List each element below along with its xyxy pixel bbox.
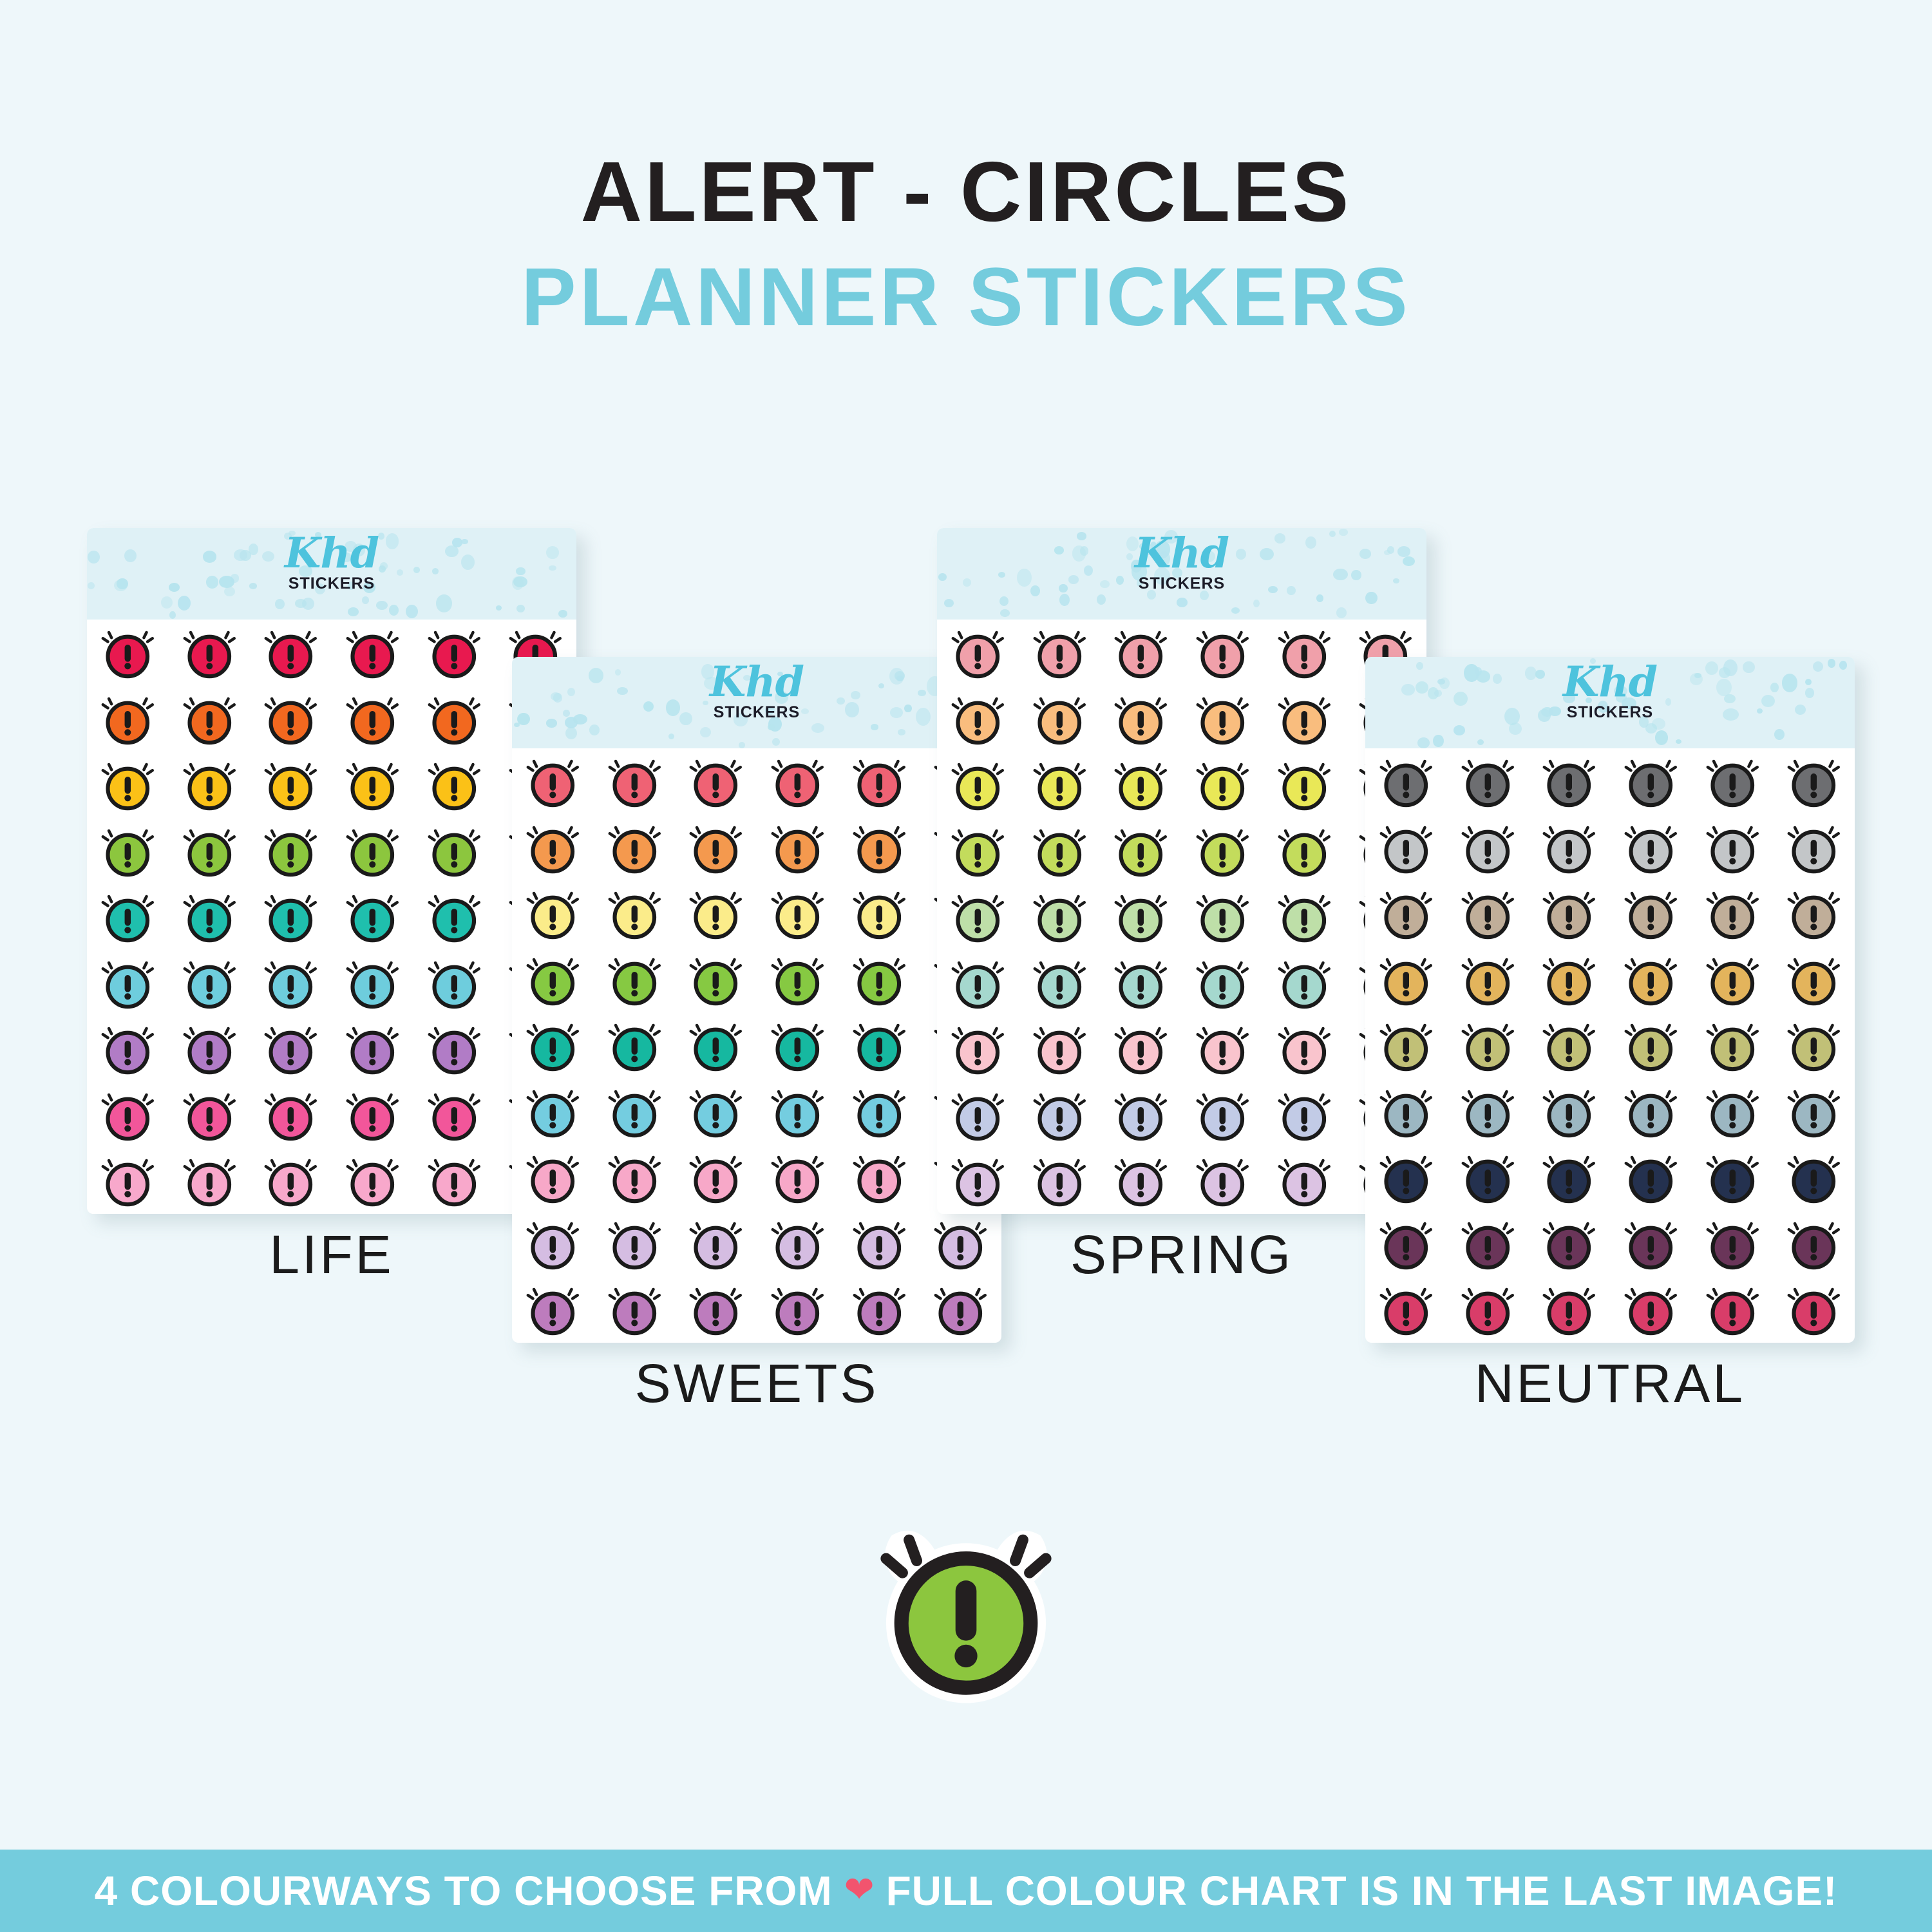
alert-circle-icon: [1108, 1016, 1174, 1082]
sticker-cell[interactable]: [764, 1079, 831, 1145]
alert-circle-icon: [1618, 1079, 1684, 1145]
sticker-cell[interactable]: [176, 620, 243, 686]
page-title: ALERT - CIRCLES: [0, 149, 1932, 234]
alert-circle-icon: [1536, 947, 1602, 1013]
sticker-cell[interactable]: [520, 748, 586, 815]
alert-circle-icon: [945, 818, 1011, 884]
alert-circle-icon: [1455, 880, 1521, 947]
sticker-cell[interactable]: [95, 1082, 161, 1148]
alert-circle-icon: [945, 884, 1011, 950]
sticker-cell[interactable]: [1618, 1276, 1684, 1343]
sticker-cell[interactable]: [1027, 1148, 1093, 1214]
sticker-cell[interactable]: [1618, 1144, 1684, 1211]
sticker-cell[interactable]: [421, 950, 488, 1016]
sticker-cell[interactable]: [1373, 1211, 1439, 1277]
alert-circle-icon: [1271, 884, 1338, 950]
sticker-cell[interactable]: [258, 818, 324, 884]
alert-circle-icon: [945, 1148, 1011, 1214]
sticker-cell[interactable]: [176, 818, 243, 884]
sticker-cell[interactable]: [1373, 1144, 1439, 1211]
sticker-cell[interactable]: [1700, 880, 1766, 947]
sticker-cell[interactable]: [421, 1148, 488, 1214]
header: ALERT - CIRCLES PLANNER STICKERS: [0, 0, 1932, 339]
brand-logo: Khd STICKERS: [937, 534, 1426, 594]
sticker-cell[interactable]: [1108, 620, 1174, 686]
sticker-cell[interactable]: [1700, 1079, 1766, 1145]
alert-circle-icon: [520, 947, 586, 1013]
sticker-cell[interactable]: [683, 947, 749, 1013]
alert-circle-icon: [601, 1144, 668, 1211]
sticker-cell[interactable]: [1373, 947, 1439, 1013]
alert-circle-icon: [1373, 947, 1439, 1013]
sticker-cell[interactable]: [1189, 620, 1256, 686]
sticker-cell[interactable]: [520, 815, 586, 881]
sticker-cell[interactable]: [683, 748, 749, 815]
sticker-cell[interactable]: [1618, 1211, 1684, 1277]
sticker-cell[interactable]: [1781, 815, 1847, 881]
alert-circle-icon: [258, 1148, 324, 1214]
sticker-cell[interactable]: [1536, 1276, 1602, 1343]
sticker-cell[interactable]: [1027, 1082, 1093, 1148]
alert-circle-icon: [1027, 1082, 1093, 1148]
heart-icon: ❤: [844, 1871, 875, 1908]
alert-circle-icon: [258, 1016, 324, 1082]
sticker-cell[interactable]: [1455, 947, 1521, 1013]
alert-circle-icon: [1700, 1144, 1766, 1211]
sticker-cell[interactable]: [1536, 1079, 1602, 1145]
sticker-cell[interactable]: [1189, 1082, 1256, 1148]
sticker-cell[interactable]: [1536, 1144, 1602, 1211]
sticker-grid: [87, 620, 576, 1214]
sticker-cell[interactable]: [520, 1276, 586, 1343]
sticker-cell[interactable]: [1373, 748, 1439, 815]
sticker-cell[interactable]: [339, 1082, 406, 1148]
alert-circle-icon: [176, 1148, 243, 1214]
sticker-cell[interactable]: [1189, 818, 1256, 884]
alert-circle-icon: [1618, 880, 1684, 947]
sticker-cell[interactable]: [601, 1144, 668, 1211]
sticker-cell[interactable]: [1781, 1079, 1847, 1145]
alert-circle-icon: [95, 1082, 161, 1148]
sticker-cell[interactable]: [601, 1079, 668, 1145]
sticker-cell[interactable]: [1618, 815, 1684, 881]
sticker-cell[interactable]: [945, 1082, 1011, 1148]
alert-circle-icon: [1271, 950, 1338, 1016]
sticker-cell[interactable]: [1781, 880, 1847, 947]
sticker-cell[interactable]: [1455, 1144, 1521, 1211]
sticker-cell[interactable]: [1700, 748, 1766, 815]
sticker-cell[interactable]: [1189, 1016, 1256, 1082]
sticker-cell[interactable]: [1700, 1211, 1766, 1277]
alert-circle-icon: [520, 1012, 586, 1079]
sticker-cell[interactable]: [601, 1211, 668, 1277]
alert-circle-icon: [520, 880, 586, 947]
alert-circle-icon: [1108, 884, 1174, 950]
sticker-cell[interactable]: [1455, 1079, 1521, 1145]
sticker-cell[interactable]: [258, 950, 324, 1016]
sticker-cell[interactable]: [258, 686, 324, 752]
alert-circle-icon: [601, 1211, 668, 1277]
alert-circle-icon: [683, 1276, 749, 1343]
page-subtitle: PLANNER STICKERS: [0, 256, 1932, 339]
sticker-cell[interactable]: [601, 748, 668, 815]
sticker-cell[interactable]: [1455, 880, 1521, 947]
sticker-cell[interactable]: [1027, 686, 1093, 752]
alert-circle-icon: [176, 620, 243, 686]
sticker-cell[interactable]: [601, 880, 668, 947]
alert-circle-icon: [601, 815, 668, 881]
sticker-cell[interactable]: [95, 818, 161, 884]
alert-circle-icon: [601, 1276, 668, 1343]
alert-circle-icon: [95, 1148, 161, 1214]
alert-circle-icon: [1455, 1144, 1521, 1211]
alert-circle-icon: [1271, 1082, 1338, 1148]
alert-circle-icon: [1700, 1211, 1766, 1277]
sticker-cell[interactable]: [1373, 815, 1439, 881]
alert-circle-icon: [1373, 815, 1439, 881]
sticker-cell[interactable]: [520, 1144, 586, 1211]
sticker-cell[interactable]: [520, 880, 586, 947]
sticker-cell[interactable]: [421, 686, 488, 752]
alert-circle-icon: [683, 1079, 749, 1145]
sticker-cell[interactable]: [1618, 1079, 1684, 1145]
sticker-cell[interactable]: [1108, 818, 1174, 884]
sticker-cell[interactable]: [258, 884, 324, 950]
sticker-cell[interactable]: [1781, 1012, 1847, 1079]
alert-circle-icon: [258, 620, 324, 686]
sticker-cell[interactable]: [95, 620, 161, 686]
sticker-grid: [512, 748, 1001, 1343]
sticker-cell[interactable]: [601, 815, 668, 881]
sticker-cell[interactable]: [1027, 620, 1093, 686]
alert-circle-icon: [764, 947, 831, 1013]
sticker-cell[interactable]: [95, 686, 161, 752]
alert-circle-icon: [1108, 818, 1174, 884]
sticker-cell[interactable]: [683, 1144, 749, 1211]
brand-script-text: Khd: [937, 534, 1426, 574]
sticker-cell[interactable]: [1271, 1082, 1338, 1148]
sticker-cell[interactable]: [1189, 686, 1256, 752]
sticker-cell[interactable]: [1189, 1148, 1256, 1214]
brand-logo: Khd STICKERS: [1365, 663, 1855, 723]
sticker-sheet-neutral[interactable]: Khd STICKERS: [1365, 657, 1855, 1343]
sticker-cell[interactable]: [683, 880, 749, 947]
alert-circle-icon: [1618, 815, 1684, 881]
sticker-cell[interactable]: [1536, 748, 1602, 815]
alert-circle-icon: [1271, 752, 1338, 818]
alert-circle-icon: [1373, 880, 1439, 947]
sticker-cell[interactable]: [927, 1276, 994, 1343]
sticker-cell[interactable]: [764, 1144, 831, 1211]
alert-circle-icon: [1189, 620, 1256, 686]
sticker-cell[interactable]: [421, 620, 488, 686]
sticker-cell[interactable]: [683, 1211, 749, 1277]
sticker-cell[interactable]: [764, 947, 831, 1013]
sticker-cell[interactable]: [683, 1276, 749, 1343]
sticker-cell[interactable]: [1108, 1148, 1174, 1214]
sticker-cell[interactable]: [176, 1016, 243, 1082]
alert-circle-icon: [1027, 686, 1093, 752]
sticker-cell[interactable]: [176, 752, 243, 818]
sticker-cell[interactable]: [339, 884, 406, 950]
sticker-cell[interactable]: [601, 947, 668, 1013]
sticker-cell[interactable]: [1373, 1079, 1439, 1145]
sticker-sheet-life[interactable]: Khd STICKERS: [87, 528, 576, 1214]
alert-circle-icon: [927, 1276, 994, 1343]
sticker-cell[interactable]: [176, 686, 243, 752]
sticker-cell[interactable]: [846, 1144, 913, 1211]
sticker-cell[interactable]: [945, 1016, 1011, 1082]
sticker-cell[interactable]: [1700, 947, 1766, 1013]
alert-circle-icon: [1618, 1276, 1684, 1343]
sticker-cell[interactable]: [1618, 880, 1684, 947]
alert-circle-icon: [258, 818, 324, 884]
sticker-cell[interactable]: [1027, 950, 1093, 1016]
sticker-cell[interactable]: [1189, 950, 1256, 1016]
sticker-cell[interactable]: [1455, 815, 1521, 881]
sticker-cell[interactable]: [1536, 1211, 1602, 1277]
alert-circle-icon: [846, 880, 913, 947]
alert-circle-icon: [258, 1082, 324, 1148]
sticker-cell[interactable]: [520, 1211, 586, 1277]
sticker-cell[interactable]: [1700, 1276, 1766, 1343]
sticker-cell[interactable]: [1455, 1276, 1521, 1343]
sticker-cell[interactable]: [1536, 880, 1602, 947]
alert-circle-icon: [764, 748, 831, 815]
alert-circle-icon: [1027, 950, 1093, 1016]
sticker-cell[interactable]: [176, 1148, 243, 1214]
sticker-cell[interactable]: [1108, 1082, 1174, 1148]
sticker-cell[interactable]: [339, 620, 406, 686]
sticker-cell[interactable]: [176, 884, 243, 950]
sticker-cell[interactable]: [1108, 950, 1174, 1016]
sheet-label-spring: SPRING: [937, 1224, 1426, 1286]
sticker-grid: [1365, 748, 1855, 1343]
alert-circle-icon: [1271, 620, 1338, 686]
sticker-cell[interactable]: [1781, 947, 1847, 1013]
alert-circle-icon: [1536, 1211, 1602, 1277]
alert-circle-icon: [95, 950, 161, 1016]
alert-circle-icon: [846, 815, 913, 881]
sticker-cell[interactable]: [1027, 884, 1093, 950]
sticker-cell[interactable]: [764, 1276, 831, 1343]
sticker-sheet-spring[interactable]: Khd STICKERS: [937, 528, 1426, 1214]
sticker-cell[interactable]: [1781, 748, 1847, 815]
sticker-cell[interactable]: [1536, 1012, 1602, 1079]
alert-circle-icon: [176, 818, 243, 884]
alert-circle-icon: [1781, 880, 1847, 947]
sticker-cell[interactable]: [1271, 884, 1338, 950]
alert-circle-icon: [1536, 1079, 1602, 1145]
alert-circle-icon: [1455, 815, 1521, 881]
alert-circle-icon: [258, 884, 324, 950]
alert-circle-icon: [1027, 752, 1093, 818]
sticker-cell[interactable]: [846, 748, 913, 815]
sticker-cell[interactable]: [945, 884, 1011, 950]
sticker-cell[interactable]: [846, 1079, 913, 1145]
sheet-label-life: LIFE: [87, 1224, 576, 1286]
sticker-cell[interactable]: [95, 950, 161, 1016]
alert-circle-icon: [176, 1016, 243, 1082]
alert-circle-icon: [176, 752, 243, 818]
alert-circle-icon: [846, 1012, 913, 1079]
sticker-cell[interactable]: [1108, 686, 1174, 752]
sticker-cell[interactable]: [764, 880, 831, 947]
sticker-cell[interactable]: [339, 1148, 406, 1214]
sticker-cell[interactable]: [520, 1012, 586, 1079]
alert-circle-icon: [1271, 818, 1338, 884]
sticker-cell[interactable]: [258, 1148, 324, 1214]
sticker-cell[interactable]: [339, 686, 406, 752]
alert-circle-icon: [846, 1079, 913, 1145]
sticker-cell[interactable]: [1027, 818, 1093, 884]
brand-word-text: STICKERS: [512, 703, 1001, 722]
sticker-cell[interactable]: [421, 1082, 488, 1148]
sticker-cell[interactable]: [339, 752, 406, 818]
sticker-cell[interactable]: [683, 815, 749, 881]
alert-circle-icon: [1027, 1148, 1093, 1214]
alert-circle-icon: [1455, 1012, 1521, 1079]
alert-circle-icon: [1189, 1148, 1256, 1214]
alert-circle-icon: [1455, 947, 1521, 1013]
sticker-cell[interactable]: [846, 815, 913, 881]
sticker-cell[interactable]: [258, 752, 324, 818]
sticker-cell[interactable]: [95, 752, 161, 818]
sticker-cell[interactable]: [945, 818, 1011, 884]
banner-text-after: FULL COLOUR CHART IS IN THE LAST IMAGE!: [886, 1867, 1838, 1915]
alert-circle-icon: [846, 1144, 913, 1211]
sticker-cell[interactable]: [601, 1276, 668, 1343]
sticker-cell[interactable]: [176, 950, 243, 1016]
sticker-cell[interactable]: [1108, 884, 1174, 950]
sticker-cell[interactable]: [764, 1012, 831, 1079]
alert-circle-icon: [1700, 947, 1766, 1013]
sticker-cell[interactable]: [95, 1148, 161, 1214]
sticker-cell[interactable]: [945, 1148, 1011, 1214]
sticker-cell[interactable]: [1781, 1144, 1847, 1211]
sticker-cell[interactable]: [1271, 620, 1338, 686]
alert-circle-icon: [1536, 748, 1602, 815]
sticker-cell[interactable]: [1700, 815, 1766, 881]
sticker-cell[interactable]: [1781, 1211, 1847, 1277]
sticker-cell[interactable]: [846, 1012, 913, 1079]
sticker-cell[interactable]: [258, 1016, 324, 1082]
sticker-cell[interactable]: [1271, 1016, 1338, 1082]
sticker-cell[interactable]: [601, 1012, 668, 1079]
sticker-cell[interactable]: [683, 1012, 749, 1079]
sticker-cell[interactable]: [945, 752, 1011, 818]
sticker-cell[interactable]: [1455, 748, 1521, 815]
sticker-cell[interactable]: [339, 950, 406, 1016]
sticker-cell[interactable]: [95, 1016, 161, 1082]
sticker-cell[interactable]: [1189, 884, 1256, 950]
alert-circle-icon: [1108, 1082, 1174, 1148]
sticker-cell[interactable]: [258, 1082, 324, 1148]
alert-circle-icon: [1781, 1276, 1847, 1343]
sticker-cell[interactable]: [846, 1211, 913, 1277]
alert-circle-icon: [339, 818, 406, 884]
sticker-cell[interactable]: [1373, 1276, 1439, 1343]
sticker-cell[interactable]: [683, 1079, 749, 1145]
sticker-cell[interactable]: [1108, 752, 1174, 818]
sticker-cell[interactable]: [1618, 748, 1684, 815]
alert-circle-icon: [1536, 1012, 1602, 1079]
sticker-cell[interactable]: [1027, 752, 1093, 818]
sticker-cell[interactable]: [1455, 1211, 1521, 1277]
alert-circle-icon: [683, 1144, 749, 1211]
sticker-sheet-sweets[interactable]: Khd STICKERS: [512, 657, 1001, 1343]
sticker-cell[interactable]: [764, 1211, 831, 1277]
sticker-cell[interactable]: [1373, 1012, 1439, 1079]
sticker-cell[interactable]: [339, 1016, 406, 1082]
sticker-cell[interactable]: [1781, 1276, 1847, 1343]
sticker-cell[interactable]: [764, 748, 831, 815]
sticker-cell[interactable]: [1271, 950, 1338, 1016]
alert-circle-icon: [1781, 947, 1847, 1013]
alert-circle-icon: [764, 1144, 831, 1211]
alert-circle-icon: [520, 1079, 586, 1145]
alert-circle-icon: [1108, 752, 1174, 818]
featured-alert-circle-icon: [857, 1501, 1075, 1719]
sticker-cell[interactable]: [1700, 1012, 1766, 1079]
sticker-cell[interactable]: [1536, 947, 1602, 1013]
alert-circle-icon: [520, 748, 586, 815]
sticker-cell[interactable]: [945, 950, 1011, 1016]
alert-circle-icon: [683, 1012, 749, 1079]
sticker-cell[interactable]: [176, 1082, 243, 1148]
sticker-cell[interactable]: [339, 818, 406, 884]
sticker-cell[interactable]: [764, 815, 831, 881]
sticker-cell[interactable]: [1108, 1016, 1174, 1082]
sticker-cell[interactable]: [520, 947, 586, 1013]
alert-circle-icon: [846, 947, 913, 1013]
sticker-cell[interactable]: [1700, 1144, 1766, 1211]
sticker-cell[interactable]: [1271, 752, 1338, 818]
alert-circle-icon: [421, 1082, 488, 1148]
sticker-cell[interactable]: [520, 1079, 586, 1145]
alert-circle-icon: [764, 880, 831, 947]
sticker-cell[interactable]: [1373, 880, 1439, 947]
sticker-cell[interactable]: [421, 752, 488, 818]
alert-circle-icon: [945, 1082, 1011, 1148]
alert-circle-icon: [1271, 1016, 1338, 1082]
alert-circle-icon: [339, 1148, 406, 1214]
sticker-cell[interactable]: [1027, 1016, 1093, 1082]
sticker-cell[interactable]: [258, 620, 324, 686]
sticker-cell[interactable]: [846, 947, 913, 1013]
sticker-cell[interactable]: [846, 880, 913, 947]
alert-circle-icon: [95, 752, 161, 818]
alert-circle-icon: [1108, 686, 1174, 752]
alert-circle-icon: [1108, 950, 1174, 1016]
sticker-cell[interactable]: [1271, 818, 1338, 884]
sticker-cell[interactable]: [846, 1276, 913, 1343]
sticker-cell[interactable]: [1536, 815, 1602, 881]
sticker-cell[interactable]: [1271, 1148, 1338, 1214]
sticker-cell[interactable]: [95, 884, 161, 950]
sticker-cell[interactable]: [421, 1016, 488, 1082]
sticker-cell[interactable]: [1189, 752, 1256, 818]
sticker-cell[interactable]: [421, 884, 488, 950]
sticker-cell[interactable]: [1455, 1012, 1521, 1079]
sticker-cell[interactable]: [1618, 947, 1684, 1013]
alert-circle-icon: [339, 1016, 406, 1082]
alert-circle-icon: [421, 620, 488, 686]
sticker-cell[interactable]: [421, 818, 488, 884]
sheet-header-band: Khd STICKERS: [87, 528, 576, 620]
sticker-cell[interactable]: [1618, 1012, 1684, 1079]
sticker-cell[interactable]: [1271, 686, 1338, 752]
